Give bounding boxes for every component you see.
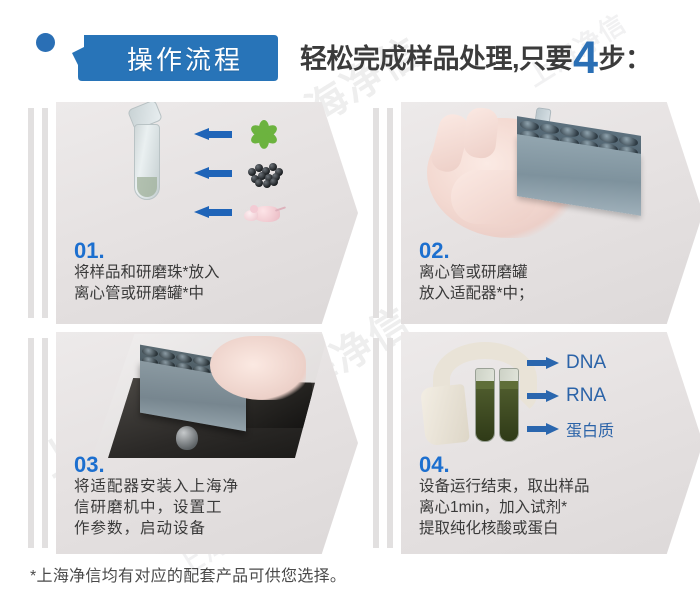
step-artwork-03 [56,332,358,472]
page-header: 操作流程 轻松完成样品处理,只要4步： [0,0,700,92]
step-number: 04. [419,452,450,478]
stripe-decoration [42,338,48,548]
arrow-left-icon [194,206,232,219]
step-line: 离心1min，加入试剂* [419,497,669,518]
step-line: 离心管或研磨罐 [419,262,669,283]
glove-wrist [420,384,470,446]
legend-label: 蛋白质 [566,417,614,441]
legend-label: RNA [566,385,606,407]
stripe-decoration [373,108,379,318]
grinding-beads-icon [246,160,284,186]
step-card-body: 01. 将样品和研磨珠*放入 离心管或研磨罐*中 [56,102,358,324]
output-legend: DNA RNA 蛋白质 [527,346,647,445]
tagline-suffix: 步： [599,44,652,74]
mouse-icon [244,200,284,226]
machine-knob [176,426,198,450]
arrow-right-icon [527,390,559,402]
arrow-right-icon [527,423,559,435]
step-line: 作参数，启动设备 [74,518,324,539]
step-card-body: DNA RNA 蛋白质 [401,332,700,554]
step-line: 信研磨机中，设置工 [74,497,324,518]
step-line: 设备运行结束，取出样品 [419,476,669,497]
step-number: 03. [74,452,105,478]
legend-item-dna: DNA [527,346,647,379]
step-description: 设备运行结束，取出样品 离心1min，加入试剂* 提取纯化核酸或蛋白 [419,476,669,539]
sample-vial-icon [499,368,519,442]
stripe-decoration [387,338,393,548]
decorative-dot [36,33,55,52]
step-line: 将样品和研磨珠*放入 [74,262,324,283]
arrow-left-icon [194,128,232,141]
step-number: 01. [74,238,105,264]
step-description: 将适配器安装入上海净 信研磨机中，设置工 作参数，启动设备 [74,476,324,539]
arrow-left-icon [194,167,232,180]
tagline-step-count: 4 [572,32,599,83]
grinder-machine-icon [92,334,328,458]
step-card-body: 03. 将适配器安装入上海净 信研磨机中，设置工 作参数，启动设备 [56,332,358,554]
step-artwork-04: DNA RNA 蛋白质 [401,332,700,472]
step-line: 放入适配器*中； [419,283,669,304]
legend-item-protein: 蛋白质 [527,412,647,445]
stripe-decoration [28,338,34,548]
step-line: 将适配器安装入上海净 [74,476,324,497]
step-line: 提取纯化核酸或蛋白 [419,518,669,539]
stripe-decoration [387,108,393,318]
test-tube-icon [134,124,160,200]
step-artwork-02 [401,102,700,242]
stripe-decoration [28,108,34,318]
section-banner: 操作流程 [72,33,280,83]
steps-grid: 01. 将样品和研磨珠*放入 离心管或研磨罐*中 [0,96,700,551]
step-card-01[interactable]: 01. 将样品和研磨珠*放入 离心管或研磨罐*中 [28,102,358,324]
step-line: 离心管或研磨罐*中 [74,283,324,304]
legend-label: DNA [566,352,606,374]
stripe-decoration [373,338,379,548]
legend-item-rna: RNA [527,379,647,412]
step-number: 02. [419,238,450,264]
footer-note: *上海净信均有对应的配套产品可供您选择。 [30,562,346,586]
step-card-02[interactable]: 02. 离心管或研磨罐 放入适配器*中； [373,102,700,324]
leaf-icon [246,116,282,150]
step-artwork-01 [56,102,358,242]
step-card-body: 02. 离心管或研磨罐 放入适配器*中； [401,102,700,324]
sample-vial-icon [475,368,495,442]
header-tagline: 轻松完成样品处理,只要4步： [300,36,652,81]
step-card-04[interactable]: DNA RNA 蛋白质 [373,332,700,554]
step-description: 离心管或研磨罐 放入适配器*中； [419,262,669,304]
step-description: 将样品和研磨珠*放入 离心管或研磨罐*中 [74,262,324,304]
stripe-decoration [42,108,48,318]
banner-label: 操作流程 [72,33,280,83]
step-card-03[interactable]: 03. 将适配器安装入上海净 信研磨机中，设置工 作参数，启动设备 [28,332,358,554]
arrow-right-icon [527,357,559,369]
tagline-prefix: 轻松完成样品处理,只要 [300,44,572,74]
